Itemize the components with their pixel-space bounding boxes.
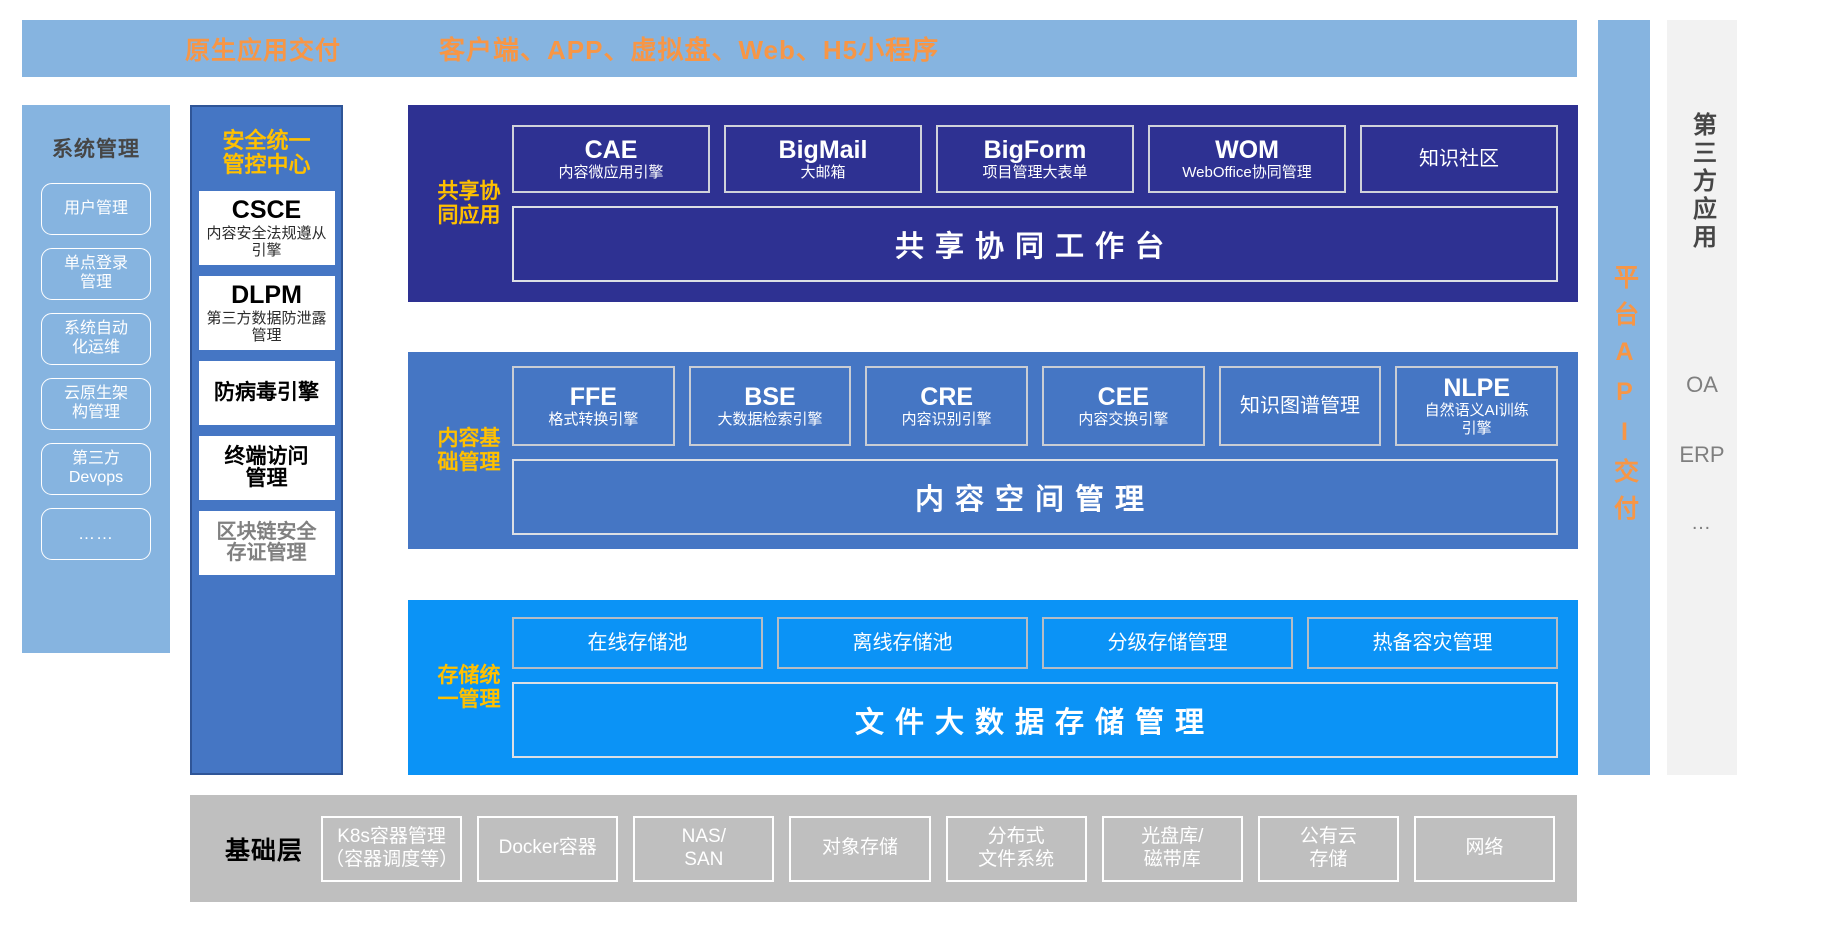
band-content-foundation-label: 内容基础管理 xyxy=(432,427,506,475)
platform-api-delivery-column: 平台API交付 xyxy=(1598,20,1650,775)
security-box-blockchain[interactable]: 区块链安全存证管理 xyxy=(199,511,335,575)
chip-cre[interactable]: CRE 内容识别引擎 xyxy=(865,366,1028,446)
chip-bigform[interactable]: BigForm 项目管理大表单 xyxy=(936,125,1134,193)
chip-wom-desc: WebOffice协同管理 xyxy=(1182,164,1311,181)
security-control-title: 安全统一管控中心 xyxy=(222,129,310,177)
sysmgmt-item-sso[interactable]: 单点登录管理 xyxy=(41,248,151,300)
chip-cee-code: CEE xyxy=(1098,384,1149,410)
chip-knowledge-graph[interactable]: 知识图谱管理 xyxy=(1219,366,1382,446)
chip-online-storage-pool-code: 在线存储池 xyxy=(588,633,688,654)
band-shared-collaboration: 共享协同应用 CAE 内容微应用引擎 BigMail 大邮箱 BigForm 项… xyxy=(408,105,1578,302)
chip-cee-desc: 内容交换引擎 xyxy=(1078,411,1168,428)
chip-hot-backup-dr-code: 热备容灾管理 xyxy=(1373,633,1493,654)
infra-item-optical-tape-library[interactable]: 光盘库/磁带库 xyxy=(1102,816,1243,882)
chip-ffe[interactable]: FFE 格式转换引擎 xyxy=(512,366,675,446)
chip-knowledge-graph-code: 知识图谱管理 xyxy=(1240,396,1360,417)
security-box-antivirus[interactable]: 防病毒引擎 xyxy=(199,361,335,425)
security-box-dlpm-desc: 第三方数据防泄露管理 xyxy=(206,310,326,345)
security-box-dlpm[interactable]: DLPM 第三方数据防泄露管理 xyxy=(199,276,335,350)
chip-tiered-storage[interactable]: 分级存储管理 xyxy=(1042,617,1293,669)
infrastructure-layer-title: 基础层 xyxy=(225,831,303,867)
chip-knowledge-community[interactable]: 知识社区 xyxy=(1360,125,1558,193)
infra-item-k8s[interactable]: K8s容器管理（容器调度等） xyxy=(321,816,462,882)
sysmgmt-item-cloudnative[interactable]: 云原生架构管理 xyxy=(41,378,151,430)
chip-cee[interactable]: CEE 内容交换引擎 xyxy=(1042,366,1205,446)
chip-cae[interactable]: CAE 内容微应用引擎 xyxy=(512,125,710,193)
security-box-blockchain-code: 区块链安全存证管理 xyxy=(217,522,317,564)
infra-item-docker[interactable]: Docker容器 xyxy=(477,816,618,882)
chip-bigmail[interactable]: BigMail 大邮箱 xyxy=(724,125,922,193)
sysmgmt-item-automation[interactable]: 系统自动化运维 xyxy=(41,313,151,365)
chip-bse[interactable]: BSE 大数据检索引擎 xyxy=(689,366,852,446)
chip-bigmail-desc: 大邮箱 xyxy=(800,164,845,181)
chip-nlpe-code: NLPE xyxy=(1443,375,1510,401)
banner-left-label: 原生应用交付 xyxy=(185,31,341,67)
banner-right-label: 客户端、APP、虚拟盘、Web、H5小程序 xyxy=(439,30,939,67)
system-management-column: 系统管理 用户管理 单点登录管理 系统自动化运维 云原生架构管理 第三方Devo… xyxy=(22,105,170,653)
third-party-apps-column: 第三方应用 OA ERP … xyxy=(1667,20,1737,775)
security-box-antivirus-code: 防病毒引擎 xyxy=(214,382,319,404)
shared-collaboration-workbench[interactable]: 共享协同工作台 xyxy=(512,206,1558,282)
infra-item-object-storage[interactable]: 对象存储 xyxy=(789,816,930,882)
third-party-item-oa[interactable]: OA xyxy=(1686,372,1718,398)
band-storage-management: 存储统一管理 在线存储池 离线存储池 分级存储管理 热备容灾管理 文件大数据存储… xyxy=(408,600,1578,775)
sysmgmt-item-more[interactable]: …… xyxy=(41,508,151,560)
security-box-dlpm-code: DLPM xyxy=(231,282,302,308)
security-box-terminal-access[interactable]: 终端访问管理 xyxy=(199,436,335,500)
chip-cre-code: CRE xyxy=(920,384,973,410)
platform-api-delivery-label: 平台API交付 xyxy=(1612,264,1637,532)
security-box-terminal-access-code: 终端访问管理 xyxy=(225,446,309,490)
infrastructure-layer: 基础层 K8s容器管理（容器调度等） Docker容器 NAS/SAN 对象存储… xyxy=(190,795,1577,902)
third-party-item-more[interactable]: … xyxy=(1691,512,1713,535)
chip-tiered-storage-code: 分级存储管理 xyxy=(1108,633,1228,654)
chip-online-storage-pool[interactable]: 在线存储池 xyxy=(512,617,763,669)
chip-ffe-code: FFE xyxy=(570,384,617,410)
band-content-foundation: 内容基础管理 FFE 格式转换引擎 BSE 大数据检索引擎 CRE 内容识别引擎… xyxy=(408,352,1578,549)
infra-item-public-cloud-storage[interactable]: 公有云存储 xyxy=(1258,816,1399,882)
chip-knowledge-community-code: 知识社区 xyxy=(1419,149,1499,170)
chip-bigform-desc: 项目管理大表单 xyxy=(982,164,1087,181)
chip-cae-code: CAE xyxy=(585,137,638,163)
system-management-title: 系统管理 xyxy=(52,133,140,163)
chip-bigmail-code: BigMail xyxy=(779,137,868,163)
chip-cae-desc: 内容微应用引擎 xyxy=(558,164,663,181)
chip-bse-code: BSE xyxy=(744,384,795,410)
chip-cre-desc: 内容识别引擎 xyxy=(902,411,992,428)
third-party-apps-title: 第三方应用 xyxy=(1685,112,1720,252)
band-storage-management-label: 存储统一管理 xyxy=(432,664,506,712)
security-control-column: 安全统一管控中心 CSCE 内容安全法规遵从引擎 DLPM 第三方数据防泄露管理… xyxy=(190,105,343,775)
chip-bse-desc: 大数据检索引擎 xyxy=(718,411,823,428)
chip-wom-code: WOM xyxy=(1215,137,1279,163)
security-box-csce[interactable]: CSCE 内容安全法规遵从引擎 xyxy=(199,191,335,265)
chip-offline-storage-pool[interactable]: 离线存储池 xyxy=(777,617,1028,669)
architecture-diagram: 原生应用交付 客户端、APP、虚拟盘、Web、H5小程序 系统管理 用户管理 单… xyxy=(0,0,1823,928)
infra-item-network[interactable]: 网络 xyxy=(1414,816,1555,882)
sysmgmt-item-user[interactable]: 用户管理 xyxy=(41,183,151,235)
security-box-csce-code: CSCE xyxy=(232,197,301,223)
sysmgmt-item-devops[interactable]: 第三方Devops xyxy=(41,443,151,495)
chip-bigform-code: BigForm xyxy=(984,137,1087,163)
chip-hot-backup-dr[interactable]: 热备容灾管理 xyxy=(1307,617,1558,669)
third-party-item-erp[interactable]: ERP xyxy=(1679,442,1724,468)
chip-nlpe-desc: 自然语义AI训练引擎 xyxy=(1425,402,1529,437)
infra-item-nas-san[interactable]: NAS/SAN xyxy=(633,816,774,882)
chip-nlpe[interactable]: NLPE 自然语义AI训练引擎 xyxy=(1395,366,1558,446)
band-shared-collaboration-label: 共享协同应用 xyxy=(432,180,506,228)
security-box-csce-desc: 内容安全法规遵从引擎 xyxy=(206,225,326,260)
content-space-management[interactable]: 内容空间管理 xyxy=(512,459,1558,535)
file-bigdata-storage-management[interactable]: 文件大数据存储管理 xyxy=(512,682,1558,758)
chip-offline-storage-pool-code: 离线存储池 xyxy=(853,633,953,654)
top-delivery-banner: 原生应用交付 客户端、APP、虚拟盘、Web、H5小程序 xyxy=(22,20,1577,77)
infra-item-distributed-fs[interactable]: 分布式文件系统 xyxy=(946,816,1087,882)
chip-wom[interactable]: WOM WebOffice协同管理 xyxy=(1148,125,1346,193)
chip-ffe-desc: 格式转换引擎 xyxy=(548,411,638,428)
